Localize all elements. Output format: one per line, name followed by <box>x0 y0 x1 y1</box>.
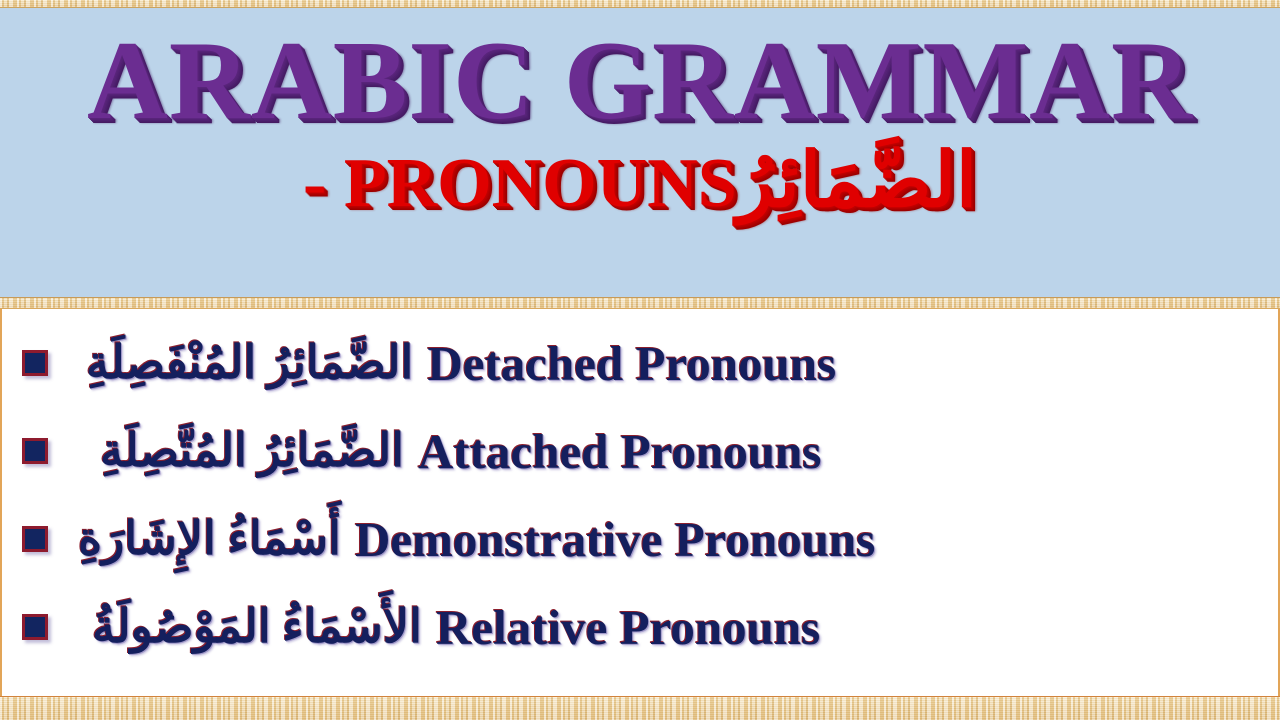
middle-wooden-strip <box>0 297 1280 309</box>
page-subtitle: الضَّمَائِرُPRONOUNS - <box>303 142 977 222</box>
list-item-english: Demonstrative Pronouns <box>355 515 875 564</box>
square-bullet-icon <box>22 526 48 552</box>
list-item-english: Relative Pronouns <box>436 603 820 652</box>
subtitle-arabic-text: الضَّمَائِرُ <box>737 139 977 223</box>
square-bullet-icon <box>22 438 48 464</box>
square-bullet-icon <box>22 350 48 376</box>
list-item-content: أَسْمَاءُ الإِشَارَةِ Demonstrative Pron… <box>78 515 1264 564</box>
list-item: الأَسْمَاءُ المَوْصُولَةُ Relative Prono… <box>16 583 1264 671</box>
list-item-content: الضَّمَائِرُ المُتَّصِلَةِ Attached Pron… <box>78 427 1264 476</box>
list-item-arabic: الضَّمَائِرُ المُتَّصِلَةِ <box>100 428 404 474</box>
subtitle-english-text: PRONOUNS - <box>303 145 737 222</box>
square-bullet-icon <box>22 614 48 640</box>
list-item-english: Attached Pronouns <box>418 427 821 476</box>
bullet-list: الضَّمَائِرُ المُنْفَصِلَةِ Detached Pro… <box>0 309 1280 696</box>
list-item: أَسْمَاءُ الإِشَارَةِ Demonstrative Pron… <box>16 495 1264 583</box>
slide-header: ARABIC GRAMMAR الضَّمَائِرُPRONOUNS - <box>0 8 1280 297</box>
top-wooden-strip <box>0 0 1280 8</box>
list-item-arabic: الأَسْمَاءُ المَوْصُولَةُ <box>92 604 422 650</box>
list-item: الضَّمَائِرُ المُنْفَصِلَةِ Detached Pro… <box>16 319 1264 407</box>
list-item-arabic: الضَّمَائِرُ المُنْفَصِلَةِ <box>86 340 413 386</box>
bottom-wooden-strip <box>0 696 1280 720</box>
list-item-content: الأَسْمَاءُ المَوْصُولَةُ Relative Prono… <box>78 603 1264 652</box>
slide-root: ARABIC GRAMMAR الضَّمَائِرُPRONOUNS - ال… <box>0 0 1280 720</box>
list-item-arabic: أَسْمَاءُ الإِشَارَةِ <box>78 516 341 562</box>
list-item: الضَّمَائِرُ المُتَّصِلَةِ Attached Pron… <box>16 407 1264 495</box>
list-item-content: الضَّمَائِرُ المُنْفَصِلَةِ Detached Pro… <box>78 339 1264 388</box>
page-title: ARABIC GRAMMAR <box>87 24 1193 138</box>
list-item-english: Detached Pronouns <box>427 339 836 388</box>
